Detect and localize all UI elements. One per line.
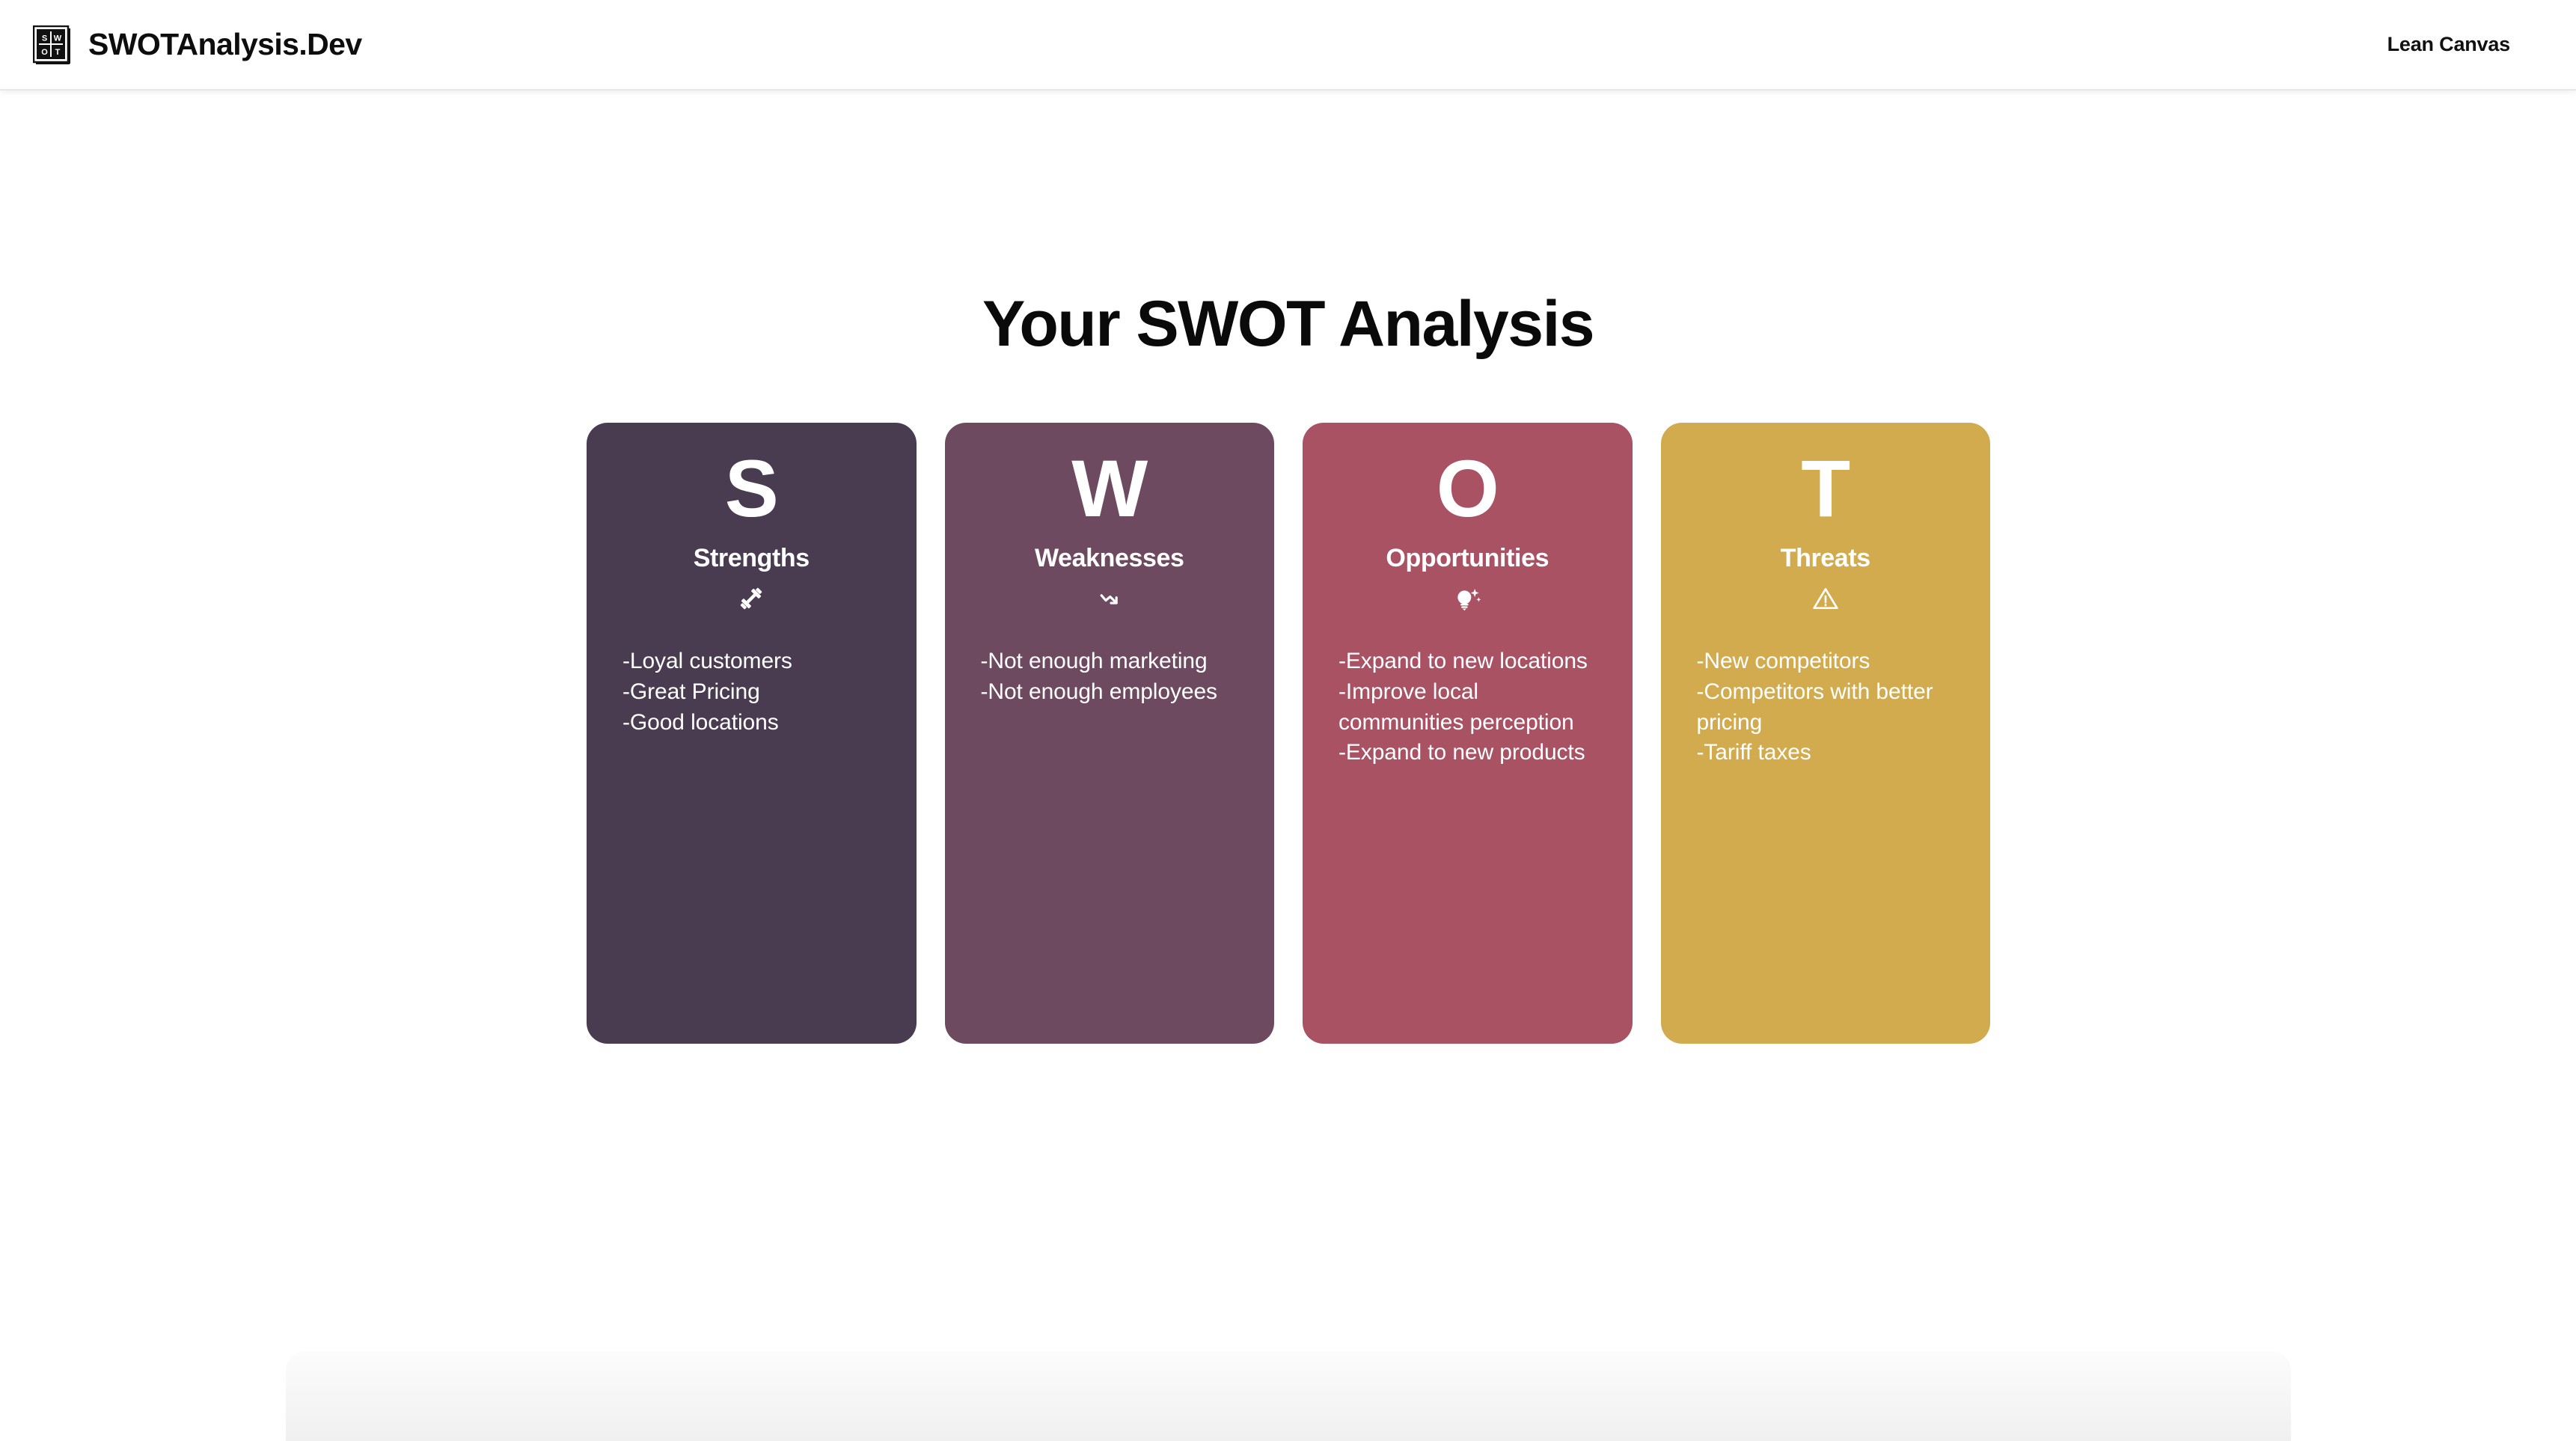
page-title: Your SWOT Analysis — [0, 287, 2576, 361]
svg-text:O: O — [41, 48, 48, 57]
site-header: S W O T SWOTAnalysis.Dev Lean Canvas — [0, 0, 2576, 91]
card-items-strengths: -Loyal customers -Great Pricing -Good lo… — [587, 646, 917, 738]
card-item: -Expand to new locations — [1339, 646, 1600, 677]
card-item: -Competitors with better pricing — [1697, 677, 1958, 738]
header-nav: Lean Canvas — [2387, 33, 2510, 56]
card-item: -Good locations — [622, 708, 884, 738]
swot-grid: S Strengths -Loyal customers -Great Pric… — [587, 423, 1990, 1044]
card-item: -Improve local communities perception — [1339, 677, 1600, 738]
card-letter-threats: T — [1661, 448, 1991, 529]
bottom-panel — [286, 1351, 2291, 1441]
brand-name: SWOTAnalysis.Dev — [88, 27, 362, 62]
swot-grid-logo-icon: S W O T — [33, 25, 72, 64]
swot-card-opportunities[interactable]: O Opportunities -Expand to new locations… — [1303, 423, 1633, 1044]
card-title-weaknesses: Weaknesses — [945, 544, 1275, 573]
brand[interactable]: S W O T SWOTAnalysis.Dev — [33, 25, 362, 64]
card-item: -New competitors — [1697, 646, 1958, 677]
svg-text:W: W — [54, 34, 62, 43]
swot-card-weaknesses[interactable]: W Weaknesses -Not enough marketing -Not … — [945, 423, 1275, 1044]
card-item: -Loyal customers — [622, 646, 884, 677]
card-title-threats: Threats — [1661, 544, 1991, 573]
card-title-opportunities: Opportunities — [1303, 544, 1633, 573]
lightbulb-sparkle-icon — [1303, 584, 1633, 614]
trending-down-arrow-icon — [945, 584, 1275, 614]
dumbbell-icon — [587, 584, 917, 614]
card-letter-opportunities: O — [1303, 448, 1633, 529]
card-item: -Great Pricing — [622, 677, 884, 708]
card-items-weaknesses: -Not enough marketing -Not enough employ… — [945, 646, 1275, 708]
svg-text:S: S — [42, 34, 47, 43]
nav-link-lean-canvas[interactable]: Lean Canvas — [2387, 33, 2510, 56]
svg-text:T: T — [55, 48, 61, 57]
card-item: -Not enough marketing — [981, 646, 1242, 677]
card-items-threats: -New competitors -Competitors with bette… — [1661, 646, 1991, 768]
card-title-strengths: Strengths — [587, 544, 917, 573]
main-content: Your SWOT Analysis S Strengths -Loyal c — [0, 91, 2576, 1306]
card-items-opportunities: -Expand to new locations -Improve local … — [1303, 646, 1633, 768]
swot-card-threats[interactable]: T Threats -New competitors -Competitors … — [1661, 423, 1991, 1044]
card-letter-weaknesses: W — [945, 448, 1275, 529]
card-item: -Expand to new products — [1339, 738, 1600, 768]
swot-card-strengths[interactable]: S Strengths -Loyal customers -Great Pric… — [587, 423, 917, 1044]
card-item: -Tariff taxes — [1697, 738, 1958, 768]
warning-triangle-icon — [1661, 584, 1991, 614]
card-letter-strengths: S — [587, 448, 917, 529]
card-item: -Not enough employees — [981, 677, 1242, 708]
